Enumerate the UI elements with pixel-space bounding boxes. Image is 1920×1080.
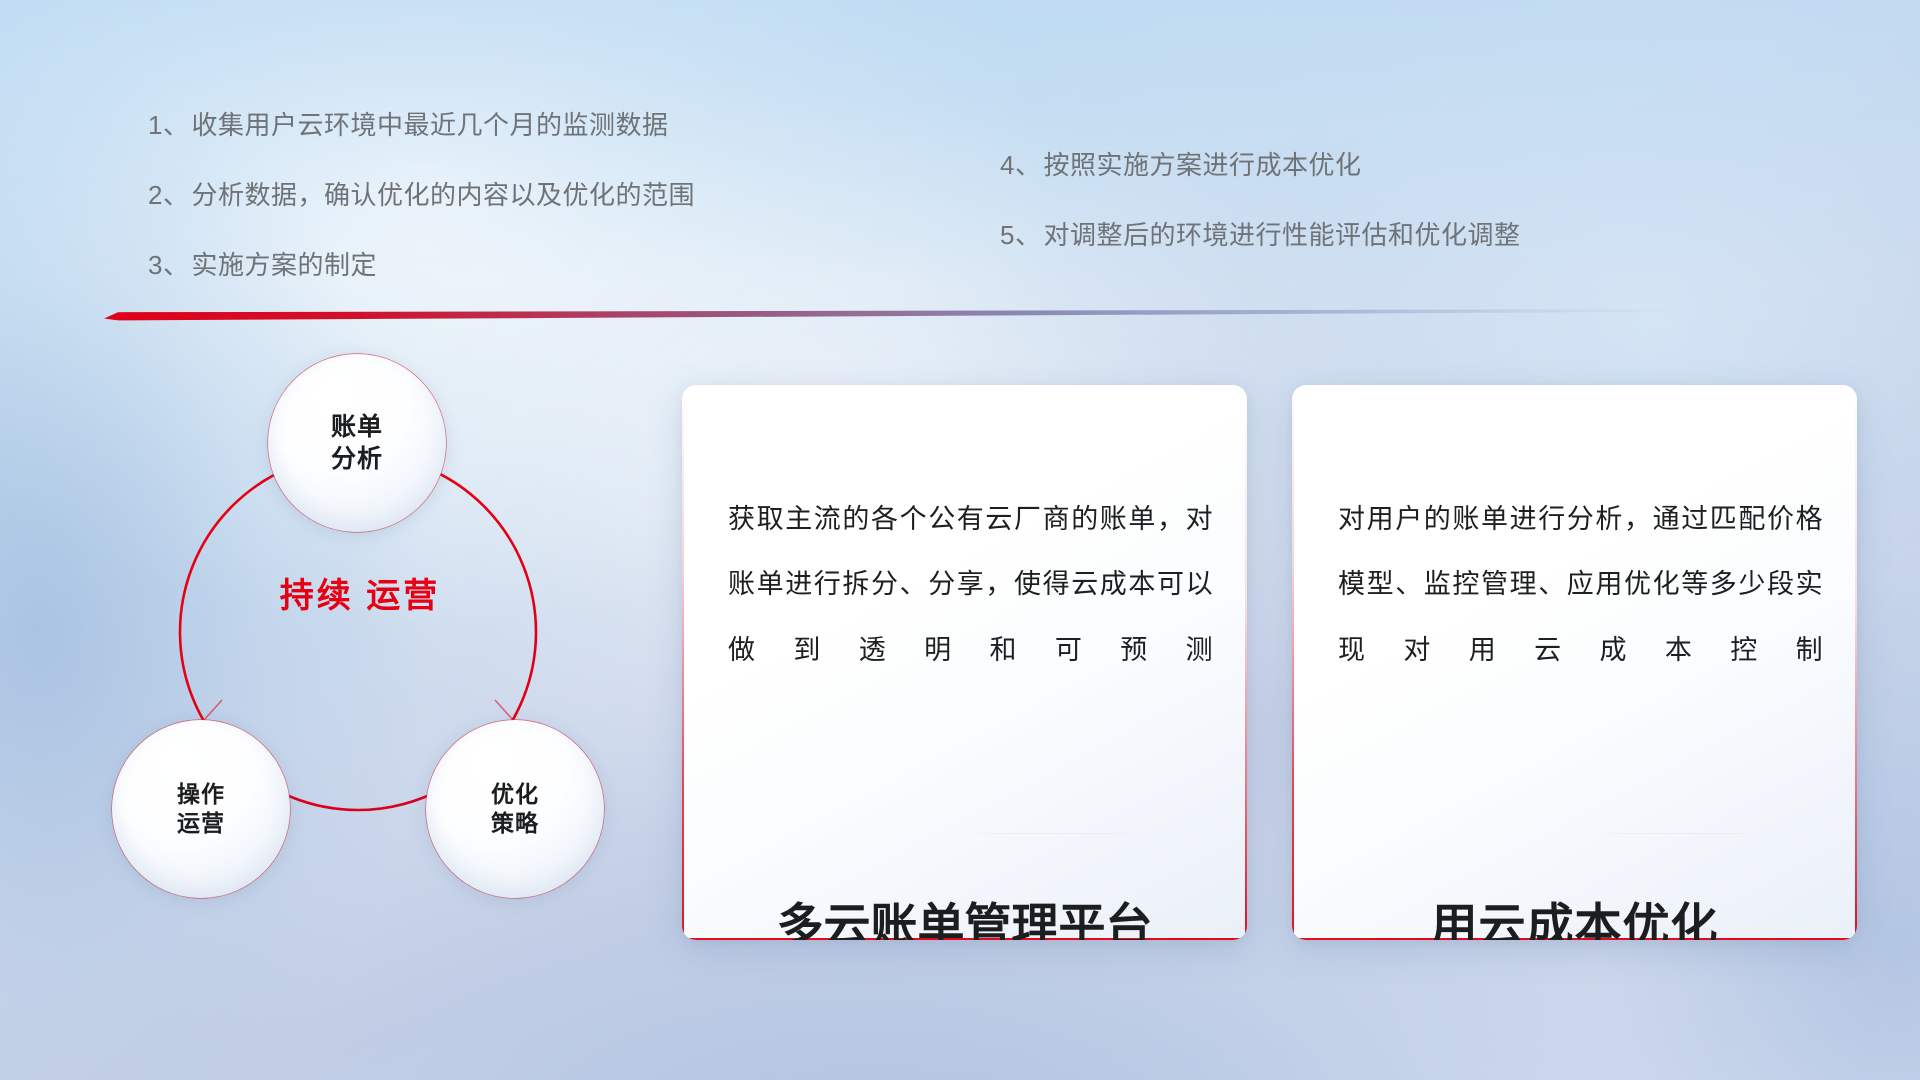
list-item-label: 分析数据，确认优化的内容以及优化的范围	[191, 182, 695, 208]
diagram-bubble-bill-analysis[interactable]: 账单 分析	[268, 354, 446, 532]
diagram-center-label: 持续 运营	[272, 574, 448, 619]
list-item-label: 按照实施方案进行成本优化	[1043, 152, 1361, 178]
card-description: 对用户的账单进行分析，通过匹配价格模型、监控管理、应用优化等多少段实现对用云成本…	[1338, 487, 1823, 683]
list-item: 5、 对调整后的环境进行性能评估和优化调整	[1000, 222, 1520, 248]
list-item: 4、 按照实施方案进行成本优化	[1000, 152, 1520, 178]
steps-list-right: 4、 按照实施方案进行成本优化 5、 对调整后的环境进行性能评估和优化调整	[1000, 152, 1520, 292]
section-divider	[104, 307, 1698, 321]
bubble-label-line1: 操作	[177, 780, 225, 809]
list-item-number: 3、	[148, 252, 189, 278]
list-item-number: 2、	[148, 182, 189, 208]
center-label-line2: 运营	[366, 577, 440, 615]
diagram-bubble-operations[interactable]: 操作 运营	[112, 720, 290, 898]
bubble-label-line2: 分析	[331, 443, 383, 475]
list-item-label: 实施方案的制定	[191, 252, 377, 278]
card-description: 获取主流的各个公有云厂商的账单，对账单进行拆分、分享，使得云成本可以做到透明和可…	[728, 487, 1213, 683]
card-title: 用云成本优化	[1292, 887, 1857, 940]
bubble-label-line1: 优化	[491, 780, 539, 809]
card-divider	[724, 827, 1196, 834]
list-item-number: 5、	[1000, 222, 1041, 248]
list-item: 1、 收集用户云环境中最近几个月的监测数据	[148, 112, 695, 138]
card-divider	[1334, 827, 1806, 834]
continuous-operation-diagram: 账单 分析 操作 运营 优化 策略 持续 运营	[96, 352, 666, 942]
card-accent-border-right	[1855, 385, 1858, 940]
list-item: 2、 分析数据，确认优化的内容以及优化的范围	[148, 182, 695, 208]
bubble-label-line2: 运营	[177, 809, 225, 838]
card-accent-border-right	[1245, 385, 1248, 940]
list-item: 3、 实施方案的制定	[148, 252, 695, 278]
center-label-line1: 持续	[280, 577, 354, 615]
feature-card-cloud-cost-optimization[interactable]: 对用户的账单进行分析，通过匹配价格模型、监控管理、应用优化等多少段实现对用云成本…	[1292, 385, 1857, 940]
card-title: 多云账单管理平台	[682, 887, 1247, 940]
list-item-label: 收集用户云环境中最近几个月的监测数据	[191, 112, 668, 138]
bubble-label-line1: 账单	[331, 411, 383, 443]
list-item-label: 对调整后的环境进行性能评估和优化调整	[1043, 222, 1520, 248]
list-item-number: 1、	[148, 112, 189, 138]
bubble-label-line2: 策略	[491, 809, 539, 838]
feature-card-multicloud-billing[interactable]: 获取主流的各个公有云厂商的账单，对账单进行拆分、分享，使得云成本可以做到透明和可…	[682, 385, 1247, 940]
steps-list-left: 1、 收集用户云环境中最近几个月的监测数据 2、 分析数据，确认优化的内容以及优…	[148, 112, 695, 322]
list-item-number: 4、	[1000, 152, 1041, 178]
diagram-bubble-optimization-strategy[interactable]: 优化 策略	[426, 720, 604, 898]
